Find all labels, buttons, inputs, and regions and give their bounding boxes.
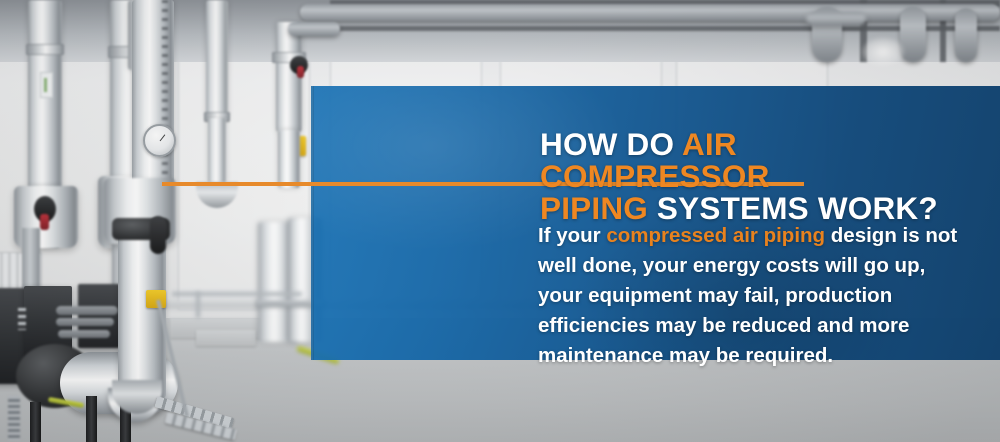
body-paragraph: If your compressed air piping design is …	[538, 221, 958, 371]
body-accent-compressed-air-piping: compressed air piping	[606, 224, 825, 247]
page-title: HOW DO AIR COMPRESSOR PIPING SYSTEMS WOR…	[540, 128, 970, 224]
body-text-part1: If your	[538, 224, 606, 247]
heading-text-part1: HOW DO	[540, 126, 682, 162]
air-compressor-piping-banner: HOW DO AIR COMPRESSOR PIPING SYSTEMS WOR…	[0, 0, 1000, 442]
